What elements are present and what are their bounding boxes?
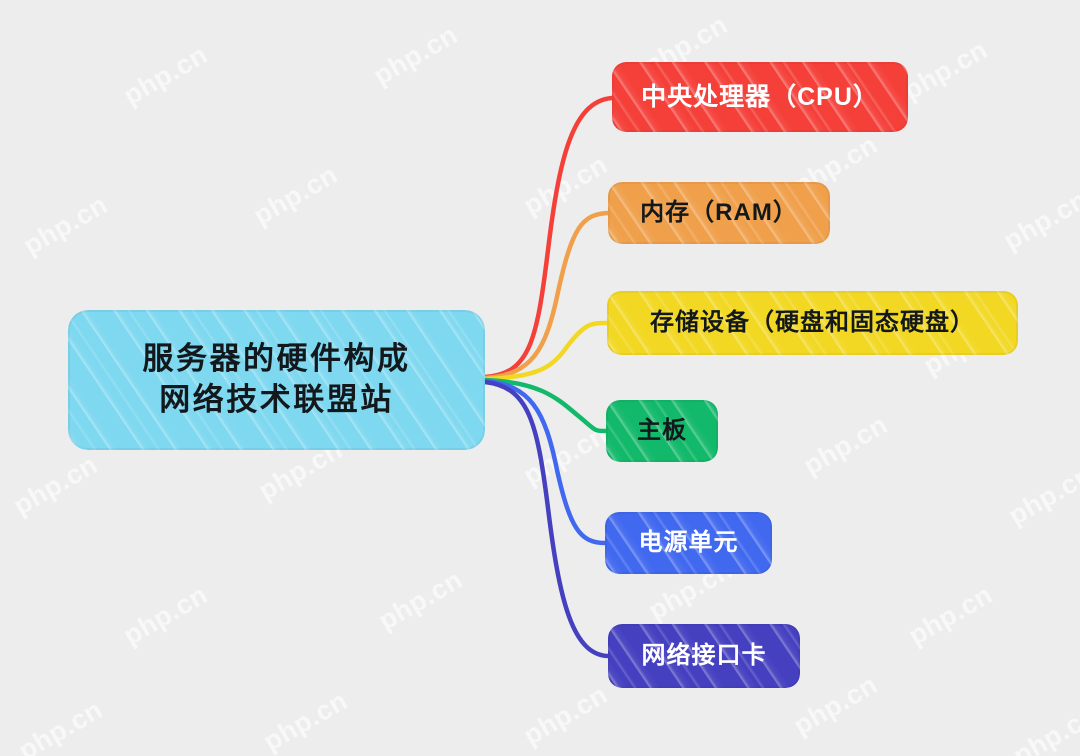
watermark-php-cn: php.cn	[13, 694, 108, 756]
cpu-node-label: 中央处理器（CPU）	[641, 81, 879, 114]
watermark-php-cn: php.cn	[118, 39, 213, 112]
watermark-php-cn: php.cn	[798, 409, 893, 482]
watermark-php-cn: php.cn	[248, 159, 343, 232]
watermark-php-cn: php.cn	[903, 579, 998, 652]
mindmap-node-storage[interactable]: 存储设备（硬盘和固态硬盘）	[607, 291, 1018, 355]
watermark-php-cn: php.cn	[118, 579, 213, 652]
watermark-php-cn: php.cn	[8, 449, 103, 522]
watermark-php-cn: php.cn	[1003, 459, 1080, 532]
root-node-label: 服务器的硬件构成 网络技术联盟站	[143, 339, 411, 421]
ram-node-label: 内存（RAM）	[640, 197, 798, 229]
watermark-php-cn: php.cn	[518, 419, 613, 492]
mindmap-node-motherboard[interactable]: 主板	[606, 400, 718, 462]
connector-board	[485, 380, 606, 431]
connector-nic	[485, 382, 608, 656]
mindmap-node-power-supply[interactable]: 电源单元	[605, 512, 772, 574]
watermark-php-cn: php.cn	[258, 685, 353, 756]
network-card-node-label: 网络接口卡	[642, 640, 767, 672]
watermark-php-cn: php.cn	[898, 34, 993, 107]
mindmap-node-network-card[interactable]: 网络接口卡	[608, 624, 800, 688]
storage-node-label: 存储设备（硬盘和固态硬盘）	[650, 307, 975, 339]
watermark-php-cn: php.cn	[373, 564, 468, 637]
connector-psu	[485, 381, 605, 543]
mindmap-canvas: php.cnphp.cnphp.cnphp.cnphp.cnphp.cnphp.…	[0, 0, 1080, 756]
watermark-php-cn: php.cn	[18, 189, 113, 262]
connector-storage	[485, 323, 607, 379]
connector-cpu	[485, 98, 612, 377]
connector-ram	[485, 213, 608, 378]
mindmap-node-ram[interactable]: 内存（RAM）	[608, 182, 830, 244]
watermark-php-cn: php.cn	[518, 149, 613, 222]
motherboard-node-label: 主板	[637, 415, 687, 447]
watermark-php-cn: php.cn	[518, 679, 613, 752]
watermark-php-cn: php.cn	[1008, 699, 1080, 756]
mindmap-node-cpu[interactable]: 中央处理器（CPU）	[612, 62, 908, 132]
watermark-php-cn: php.cn	[788, 669, 883, 742]
watermark-php-cn: php.cn	[368, 19, 463, 92]
mindmap-root-node[interactable]: 服务器的硬件构成 网络技术联盟站	[68, 310, 485, 450]
power-supply-node-label: 电源单元	[639, 527, 739, 559]
watermark-php-cn: php.cn	[998, 184, 1080, 257]
